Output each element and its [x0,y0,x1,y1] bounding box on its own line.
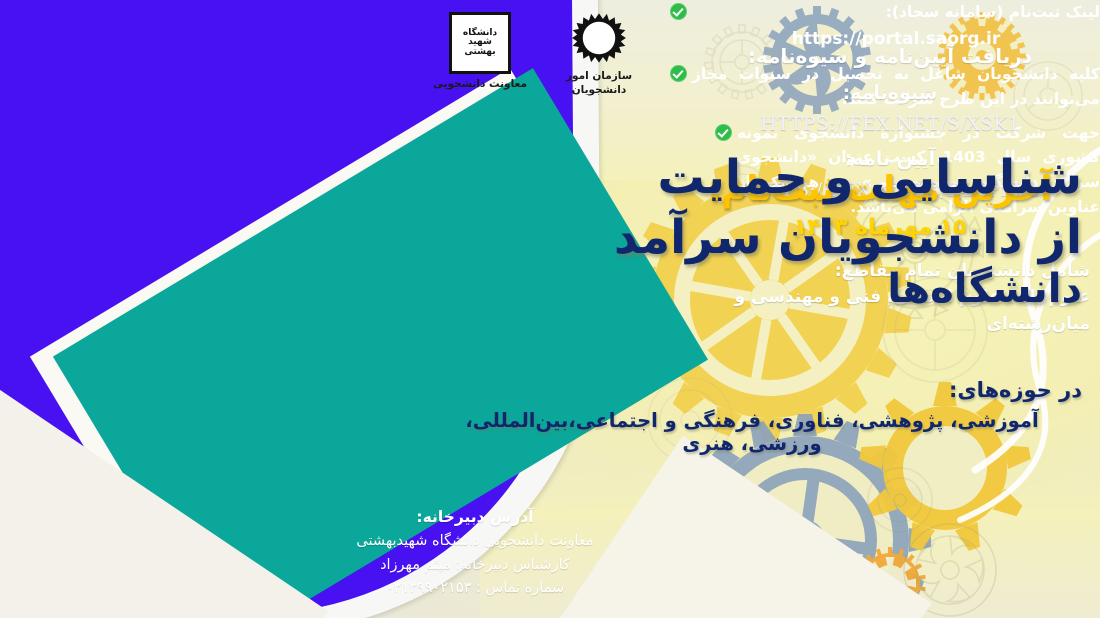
sbu-caption: معاونت دانشجویی [425,77,535,91]
shahid-beheshti-university-logo: دانشگاه شهید بهشتی معاونت دانشجویی [425,12,535,91]
secretariat-line-3: شماره تماس : ۰۲۱۲۹۹۰۲۱۵۳ [300,577,650,600]
documents-header-label: دریافت آیین‌نامه و شیوه‌نامه: [748,44,1032,68]
guideline-url-text[interactable]: HTTPS://FEX.NET/S/XSK1 [760,113,1020,135]
check-circle-icon [670,3,687,20]
main-title-line-3: دانشگاه‌ها [522,264,1082,315]
student-affairs-organization-logo: سازمان امور دانشجویان [543,10,655,97]
domains-list: آموزشی، پژوهشی، فناوری، فرهنگی و اجتماعی… [422,409,1082,455]
sao-caption: سازمان امور دانشجویان [543,69,655,97]
guideline-label-text: شیوه‌نامه: [843,82,938,104]
secretariat-line-1: معاونت دانشجویی دانشگاه شهیدبهشتی [300,530,650,553]
logo-group: دانشگاه شهید بهشتی معاونت دانشجویی سازما… [425,6,655,121]
domains-label: در حوزه‌های: [422,378,1082,402]
sao-starburst-icon [568,10,630,66]
documents-header: دریافت آیین‌نامه و شیوه‌نامه: [700,42,1080,70]
domains-block: در حوزه‌های: آموزشی، پژوهشی، فناوری، فره… [422,378,1082,455]
secretariat-block: آدرس دبیرخانه: معاونت دانشجویی دانشگاه ش… [300,505,650,601]
bullet-text: لینک ثبت‌نام (سامانه سجاد): [886,3,1100,21]
main-title: شناسایی و حمایت از دانشجویان سرآمد دانشگ… [522,148,1082,316]
secretariat-title: آدرس دبیرخانه: [300,505,650,530]
check-circle-icon [670,65,687,82]
main-title-line-1: شناسایی و حمایت [658,150,1083,205]
main-title-line-2: از دانشجویان سرآمد [614,210,1082,265]
sbu-mark-icon: دانشگاه شهید بهشتی [449,12,511,74]
secretariat-line-2: کارشناس دبیرخانه: میثم مهرزاد [300,554,650,577]
poster-content: دریافت آیین‌نامه و شیوه‌نامه: شیوه‌نامه:… [0,0,1100,618]
poster-canvas: دریافت آیین‌نامه و شیوه‌نامه: شیوه‌نامه:… [0,0,1100,618]
guideline-label: شیوه‌نامه: [700,80,1080,107]
check-circle-icon [715,124,732,141]
guideline-url[interactable]: HTTPS://FEX.NET/S/XSK1 [700,111,1080,138]
sbu-mark-text: دانشگاه شهید بهشتی [452,29,508,57]
